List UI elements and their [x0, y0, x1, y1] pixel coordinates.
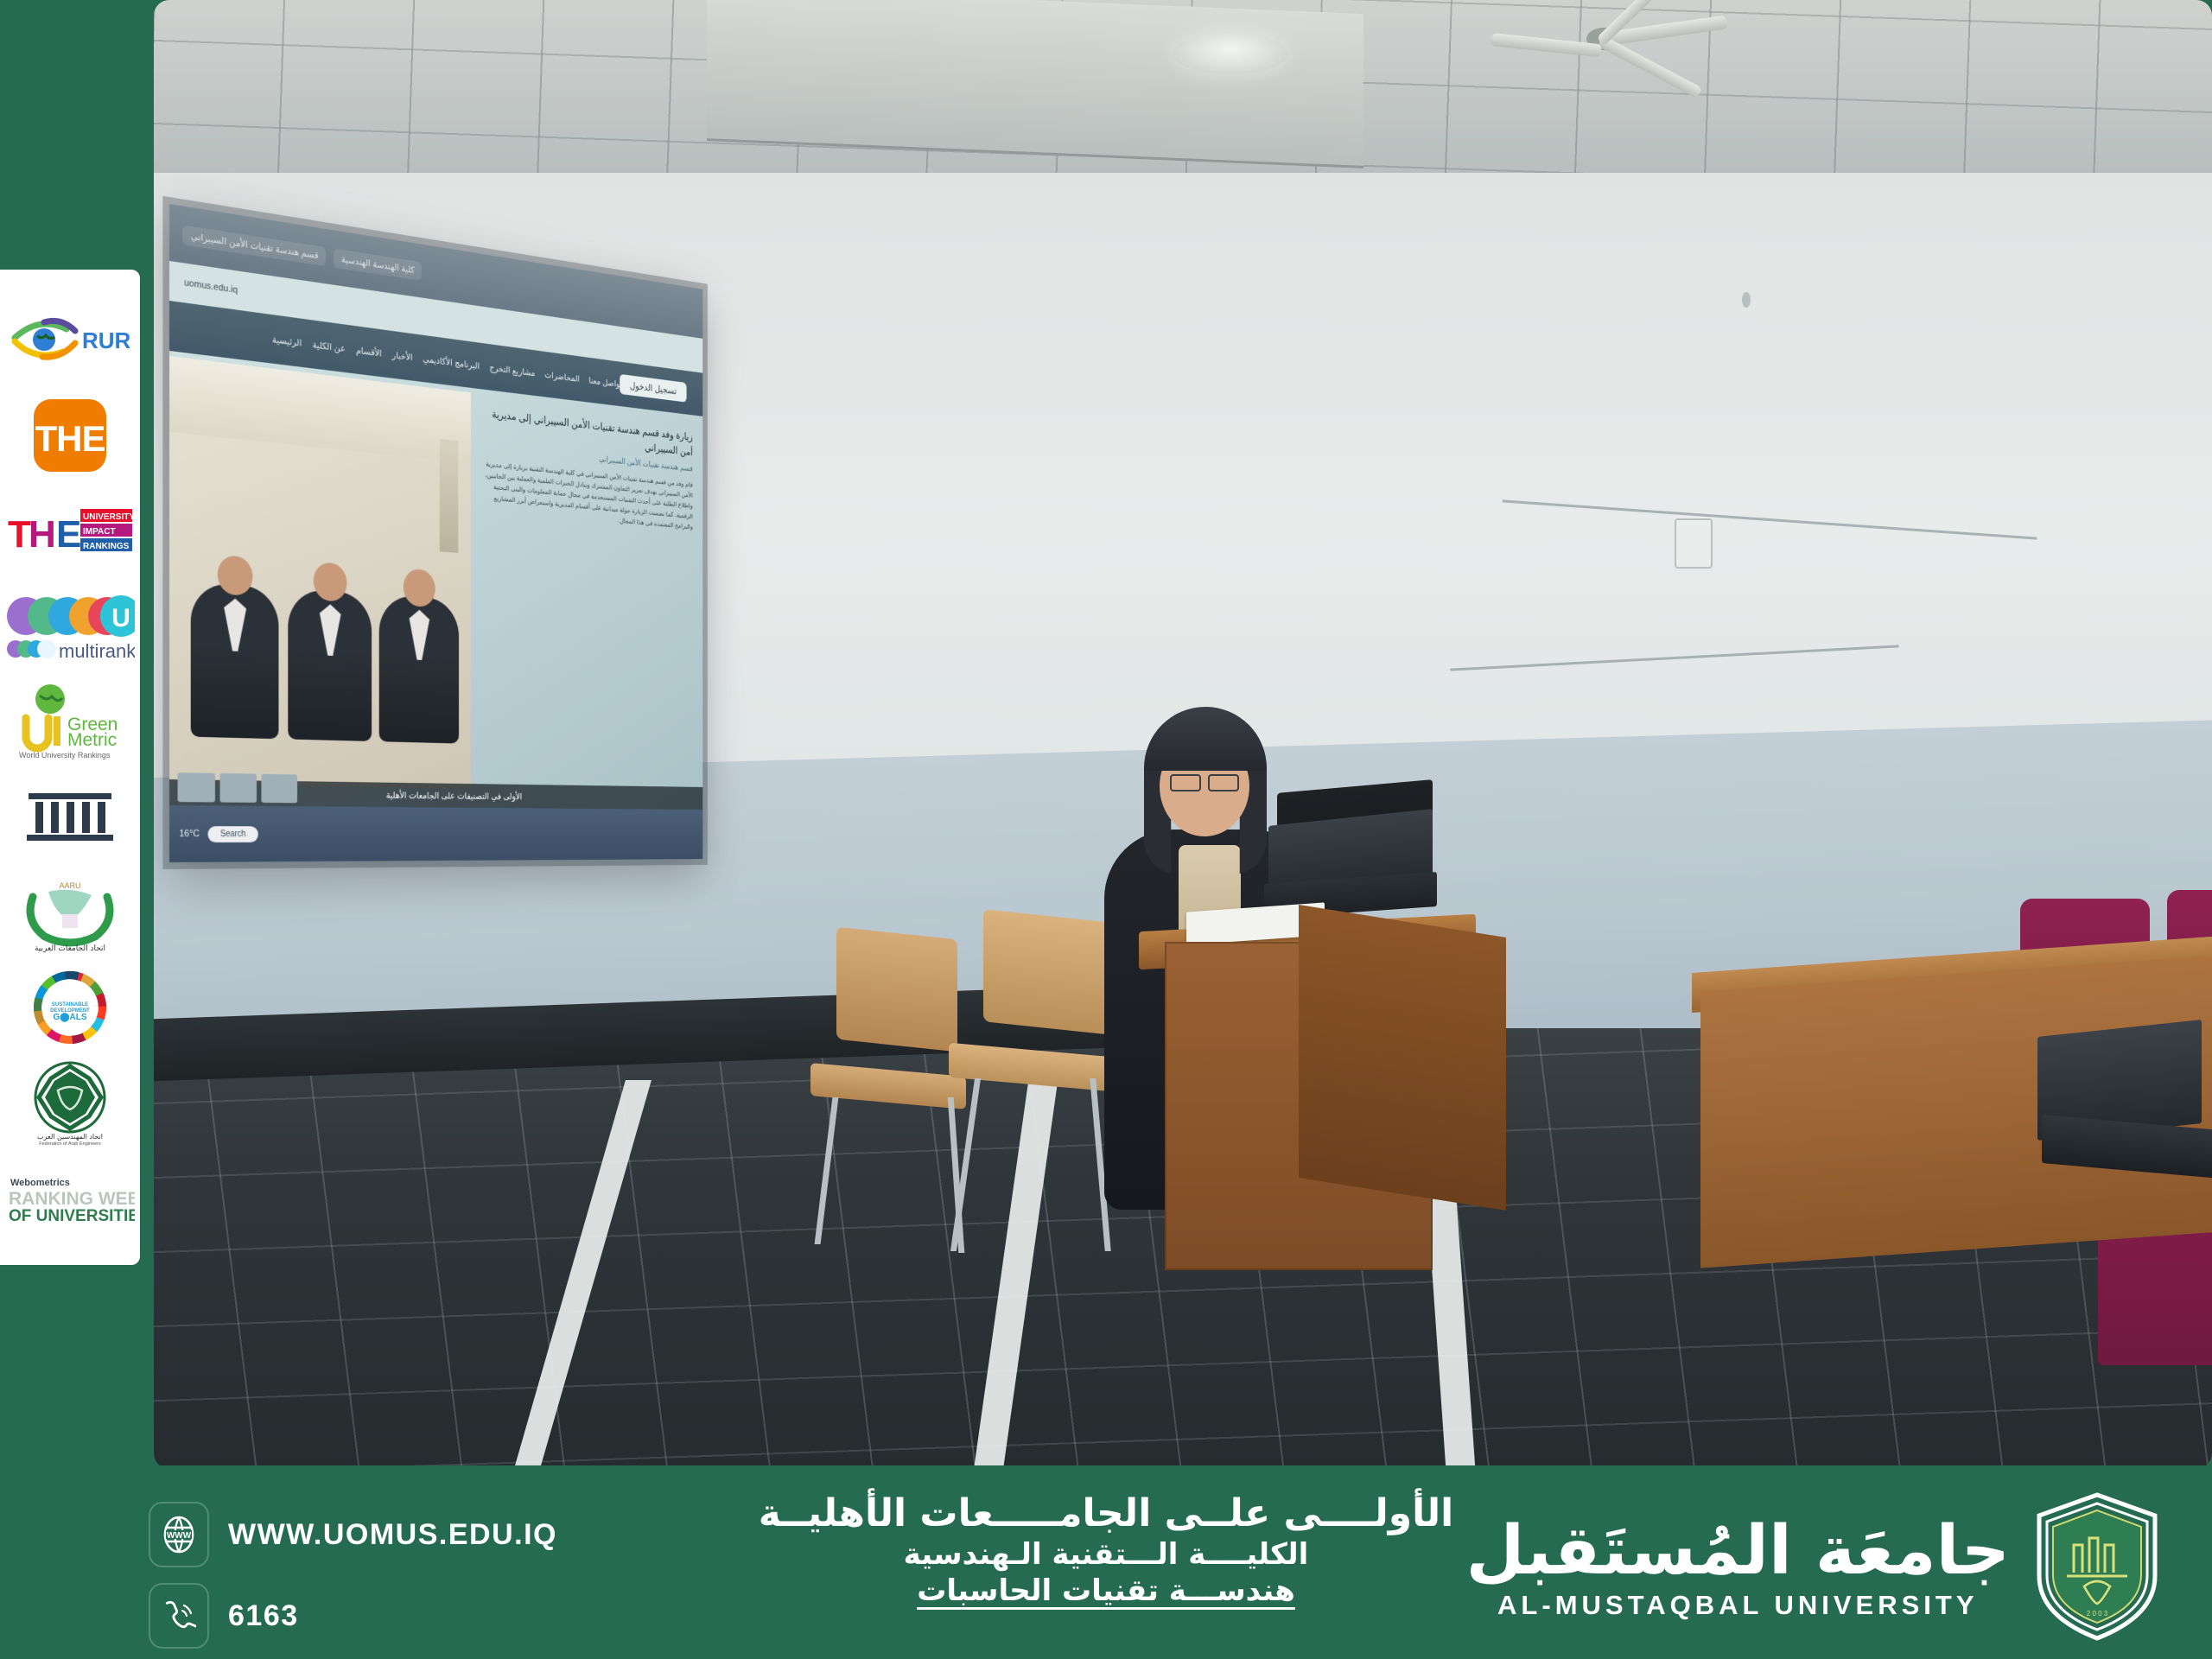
- svg-text:WWW: WWW: [167, 1531, 192, 1541]
- page-background: كلية الهندسة الهندسية قسم هندسة تقنيات ا…: [0, 0, 2212, 1659]
- phone-ring-icon: [149, 1583, 209, 1649]
- the-impact-rankings-icon: T H E UNIVERSITY IMPACT RANKINGS: [6, 502, 134, 559]
- university-rankings-logo-rail: RUR THE T H E UNIVERSITY IMPACT RANKINGS: [0, 270, 140, 1265]
- address-bar-url: uomus.edu.iq: [184, 277, 238, 296]
- os-taskbar: 16°C Search: [169, 805, 702, 862]
- svg-text:IMPACT: IMPACT: [83, 527, 116, 537]
- svg-text:UNIVERSITY: UNIVERSITY: [83, 512, 134, 522]
- arab-universities-wreath-icon: AARU اتحاد الجامعات العربية: [14, 871, 126, 954]
- svg-text:World University Rankings: World University Rankings: [19, 751, 111, 760]
- sdg-wheel-icon: SUSTAINABLE DEVELOPMENT G⬤ALS: [29, 966, 111, 1049]
- nav-item[interactable]: الأقسام: [356, 345, 382, 359]
- ui-greenmetric-logo[interactable]: Green Metric World University Rankings: [4, 674, 136, 769]
- taskbar-weather: 16°C: [179, 829, 199, 839]
- footer-contacts: WWW WWW.UOMUS.EDU.IQ 6163: [149, 1502, 684, 1649]
- footer-headline-line-1: الأولــــى علــى الجامـــــعات الأهليــة: [759, 1491, 1453, 1535]
- photo-card: كلية الهندسة الهندسية قسم هندسة تقنيات ا…: [154, 0, 2212, 1469]
- phone-contact[interactable]: 6163: [149, 1583, 684, 1649]
- article-text-column: زيارة وفد قسم هندسة تقنيات الأمن السيبرا…: [471, 392, 702, 791]
- svg-text:RANKINGS: RANKINGS: [83, 542, 130, 551]
- svg-text:Metric: Metric: [67, 730, 117, 750]
- lecture-hall-photograph: كلية الهندسة الهندسية قسم هندسة تقنيات ا…: [154, 0, 2212, 1469]
- projected-website: كلية الهندسة الهندسية قسم هندسة تقنيات ا…: [169, 204, 702, 862]
- svg-text:THE: THE: [35, 418, 105, 459]
- unesco-logo[interactable]: [4, 769, 136, 864]
- svg-text:AARU: AARU: [59, 881, 80, 890]
- svg-text:U: U: [111, 604, 130, 632]
- nav-item[interactable]: الأخبار: [392, 349, 413, 362]
- projection-screen: كلية الهندسة الهندسية قسم هندسة تقنيات ا…: [169, 204, 702, 862]
- svg-text:multirank: multirank: [59, 640, 135, 662]
- wall-power-socket: [1675, 518, 1713, 569]
- u-multirank-circles-icon: U multirank: [5, 588, 135, 663]
- svg-text:G⬤ALS: G⬤ALS: [54, 1013, 87, 1022]
- rur-logo[interactable]: RUR: [4, 292, 136, 387]
- footer-headline-line-2: الكليــــة الـــتقنية الـهندسية: [904, 1537, 1309, 1572]
- ceiling-fan-icon: [1469, 0, 1728, 92]
- svg-text:اتحاد المهندسين العرب: اتحاد المهندسين العرب: [37, 1133, 103, 1141]
- article-photo: [169, 356, 471, 789]
- nav-item[interactable]: الرئيسية: [272, 334, 302, 348]
- unesco-temple-icon: [22, 786, 118, 847]
- presenter-glasses-icon: [1170, 774, 1239, 788]
- svg-text:T: T: [8, 513, 31, 556]
- svg-text:SUSTAINABLE: SUSTAINABLE: [52, 1002, 88, 1007]
- wall-blemish: [1742, 292, 1751, 308]
- webometrics-icon: Webometrics RANKING WEB OF UNIVERSITIES: [5, 1172, 135, 1225]
- taskbar-search-input[interactable]: Search: [207, 826, 258, 842]
- svg-text:2 0 0 3: 2 0 0 3: [2087, 1610, 2108, 1618]
- lectern-desk-side: [1299, 905, 1506, 1211]
- the-orange-badge-icon: THE: [29, 394, 111, 477]
- svg-text:Webometrics: Webometrics: [10, 1178, 70, 1188]
- brand-wordmark: جامعَة المُستَقبل AL-MUSTAQBAL UNIVERSIT…: [1466, 1517, 2010, 1621]
- ui-greenmetric-globe-icon: Green Metric World University Rankings: [5, 682, 135, 761]
- footer-bar: WWW WWW.UOMUS.EDU.IQ 6163 الأولــــى علـ…: [0, 1465, 2212, 1659]
- browser-tab[interactable]: كلية الهندسة الهندسية: [334, 248, 422, 280]
- nav-item[interactable]: تواصل معنا: [588, 375, 621, 389]
- university-brand: جامعَة المُستَقبل AL-MUSTAQBAL UNIVERSIT…: [1466, 1490, 2162, 1648]
- rur-eye-globe-icon: RUR: [10, 312, 130, 367]
- nav-item[interactable]: عن الكلية: [313, 339, 346, 353]
- ceiling-duct: [707, 0, 1363, 168]
- sdg-logo[interactable]: SUSTAINABLE DEVELOPMENT G⬤ALS: [4, 960, 136, 1055]
- nav-item[interactable]: المحاضرات: [544, 369, 579, 384]
- svg-text:Federation of Arab Engineers: Federation of Arab Engineers: [39, 1141, 101, 1146]
- ceiling-light: [1173, 33, 1287, 74]
- the-impact-rankings-logo[interactable]: T H E UNIVERSITY IMPACT RANKINGS: [4, 483, 136, 578]
- nav-item[interactable]: البرنامج الأكاديمي: [423, 353, 480, 372]
- federation-arab-engineers-icon: اتحاد المهندسين العرب Federation of Arab…: [16, 1059, 124, 1146]
- svg-text:H: H: [29, 513, 56, 556]
- u-multirank-logo[interactable]: U multirank: [4, 578, 136, 673]
- footer-headline-line-3: هندســـة تقنيات الحاسبات: [917, 1573, 1295, 1608]
- website-url-text: WWW.UOMUS.EDU.IQ: [228, 1518, 557, 1552]
- webometrics-logo[interactable]: Webometrics RANKING WEB OF UNIVERSITIES: [4, 1151, 136, 1246]
- article-area: زيارة وفد قسم هندسة تقنيات الأمن السيبرا…: [169, 356, 702, 791]
- al-mustaqbal-shield-crest-icon: 2 0 0 3: [2032, 1490, 2162, 1648]
- the-logo[interactable]: THE: [4, 387, 136, 482]
- svg-text:OF UNIVERSITIES: OF UNIVERSITIES: [9, 1207, 135, 1225]
- svg-text:اتحاد الجامعات العربية: اتحاد الجامعات العربية: [35, 944, 105, 953]
- federation-arab-engineers-logo[interactable]: اتحاد المهندسين العرب Federation of Arab…: [4, 1055, 136, 1150]
- brand-name-arabic: جامعَة المُستَقبل: [1466, 1517, 2010, 1585]
- brand-name-english: AL-MUSTAQBAL UNIVERSITY: [1497, 1590, 1978, 1621]
- phone-number-text: 6163: [228, 1599, 299, 1633]
- article-thumbnail-strip[interactable]: [178, 772, 298, 803]
- browser-tab[interactable]: قسم هندسة تقنيات الأمن السيبراني: [182, 225, 326, 266]
- website-contact[interactable]: WWW WWW.UOMUS.EDU.IQ: [149, 1502, 684, 1567]
- www-globe-icon: WWW: [149, 1502, 209, 1567]
- nav-item[interactable]: مشاريع التخرج: [489, 362, 535, 378]
- chair-backrest: [983, 909, 1113, 1035]
- svg-text:RANKING WEB: RANKING WEB: [9, 1189, 135, 1209]
- chair-backrest: [836, 927, 957, 1052]
- presenter-hijab-crown: [1144, 707, 1267, 771]
- svg-text:RUR: RUR: [82, 327, 130, 353]
- svg-text:E: E: [56, 513, 81, 556]
- arab-universities-logo[interactable]: AARU اتحاد الجامعات العربية: [4, 864, 136, 959]
